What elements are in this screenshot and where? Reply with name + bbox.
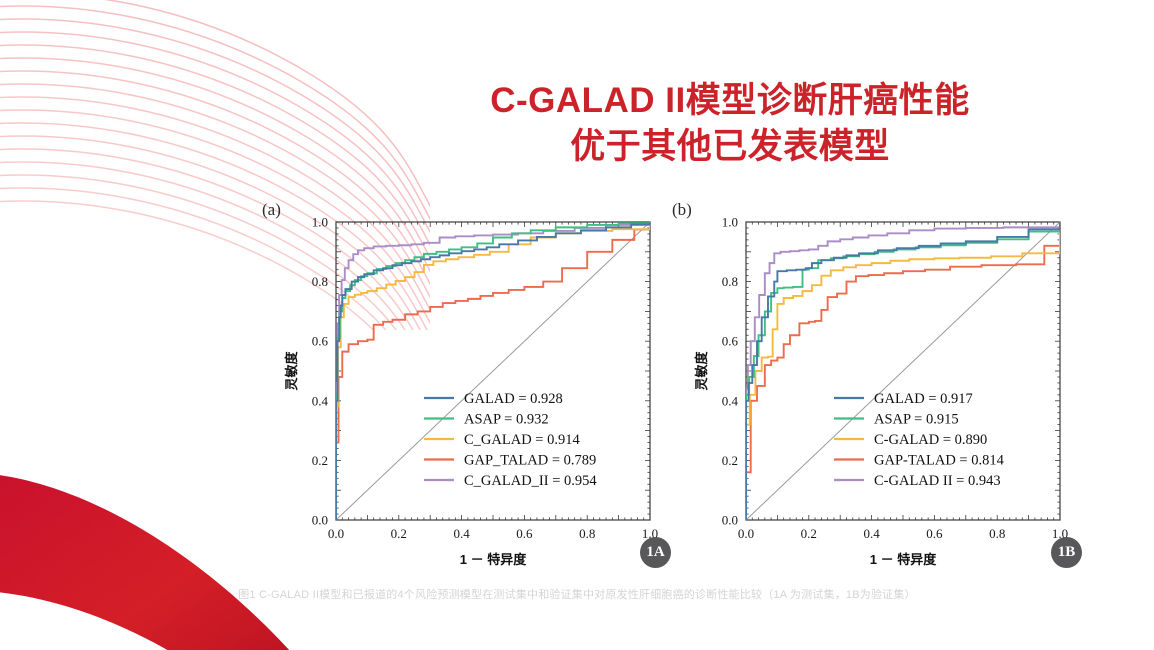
svg-text:1.0: 1.0 xyxy=(312,215,328,230)
badge-1b: 1B xyxy=(1051,537,1082,568)
legend-label-asap: ASAP = 0.915 xyxy=(874,412,959,428)
slide-canvas: C-GALAD II模型诊断肝癌性能 优于其他已发表模型 (a) 0.00.00… xyxy=(0,0,1154,650)
svg-text:0.0: 0.0 xyxy=(738,526,754,541)
svg-text:0.2: 0.2 xyxy=(391,526,407,541)
svg-text:0.6: 0.6 xyxy=(516,526,533,541)
legend-label-galad: GALAD = 0.928 xyxy=(464,391,563,407)
svg-text:0.0: 0.0 xyxy=(722,513,738,528)
svg-text:0.4: 0.4 xyxy=(863,526,880,541)
svg-text:0.0: 0.0 xyxy=(312,513,328,528)
svg-text:0.8: 0.8 xyxy=(989,526,1005,541)
legend-label-gap-talad: GAP_TALAD = 0.789 xyxy=(464,453,596,469)
legend-label-c-galad-ii: C-GALAD II = 0.943 xyxy=(874,473,1001,489)
svg-text:1 － 特异度: 1 － 特异度 xyxy=(460,552,527,567)
page-title: C-GALAD II模型诊断肝癌性能 优于其他已发表模型 xyxy=(330,78,1130,170)
svg-text:0.8: 0.8 xyxy=(312,274,328,289)
svg-text:0.2: 0.2 xyxy=(722,453,738,468)
svg-text:1 － 特异度: 1 － 特异度 xyxy=(870,552,937,567)
roc-panel-b: (b) 0.00.00.20.20.40.40.60.60.80.81.01.0… xyxy=(668,196,1088,576)
svg-text:0.4: 0.4 xyxy=(453,526,470,541)
svg-text:灵敏度: 灵敏度 xyxy=(694,351,709,391)
title-line-2: 优于其他已发表模型 xyxy=(330,124,1130,170)
panel-b-plot: 0.00.00.20.20.40.40.60.60.80.81.01.01 － … xyxy=(668,196,1088,576)
panel-a-plot: 0.00.00.20.20.40.40.60.60.80.81.01.01 － … xyxy=(258,196,678,576)
legend-label-c-galad: C_GALAD = 0.914 xyxy=(464,432,580,448)
svg-text:0.6: 0.6 xyxy=(926,526,943,541)
figure-caption: 图1 C-GALAD II模型和已报道的4个风险预测模型在测试集中和验证集中对原… xyxy=(0,586,1154,602)
svg-text:0.0: 0.0 xyxy=(328,526,344,541)
roc-panel-a: (a) 0.00.00.20.20.40.40.60.60.80.81.01.0… xyxy=(258,196,678,576)
svg-text:1.0: 1.0 xyxy=(722,215,738,230)
legend-label-c-galad: C-GALAD = 0.890 xyxy=(874,432,987,448)
legend-label-c-galad-ii: C_GALAD_II = 0.954 xyxy=(464,473,597,489)
legend-label-asap: ASAP = 0.932 xyxy=(464,412,549,428)
svg-text:0.2: 0.2 xyxy=(312,453,328,468)
svg-text:0.2: 0.2 xyxy=(801,526,817,541)
legend-label-gap-talad: GAP-TALAD = 0.814 xyxy=(874,453,1005,469)
figure-roc-curves: (a) 0.00.00.20.20.40.40.60.60.80.81.01.0… xyxy=(258,196,1108,576)
svg-text:0.6: 0.6 xyxy=(722,334,739,349)
svg-text:0.4: 0.4 xyxy=(312,393,329,408)
svg-text:0.4: 0.4 xyxy=(722,393,739,408)
svg-text:灵敏度: 灵敏度 xyxy=(284,351,299,391)
svg-text:0.6: 0.6 xyxy=(312,334,329,349)
svg-text:0.8: 0.8 xyxy=(722,274,738,289)
svg-text:0.8: 0.8 xyxy=(579,526,595,541)
legend-label-galad: GALAD = 0.917 xyxy=(874,391,973,407)
badge-1a: 1A xyxy=(640,537,671,568)
title-line-1: C-GALAD II模型诊断肝癌性能 xyxy=(330,78,1130,124)
